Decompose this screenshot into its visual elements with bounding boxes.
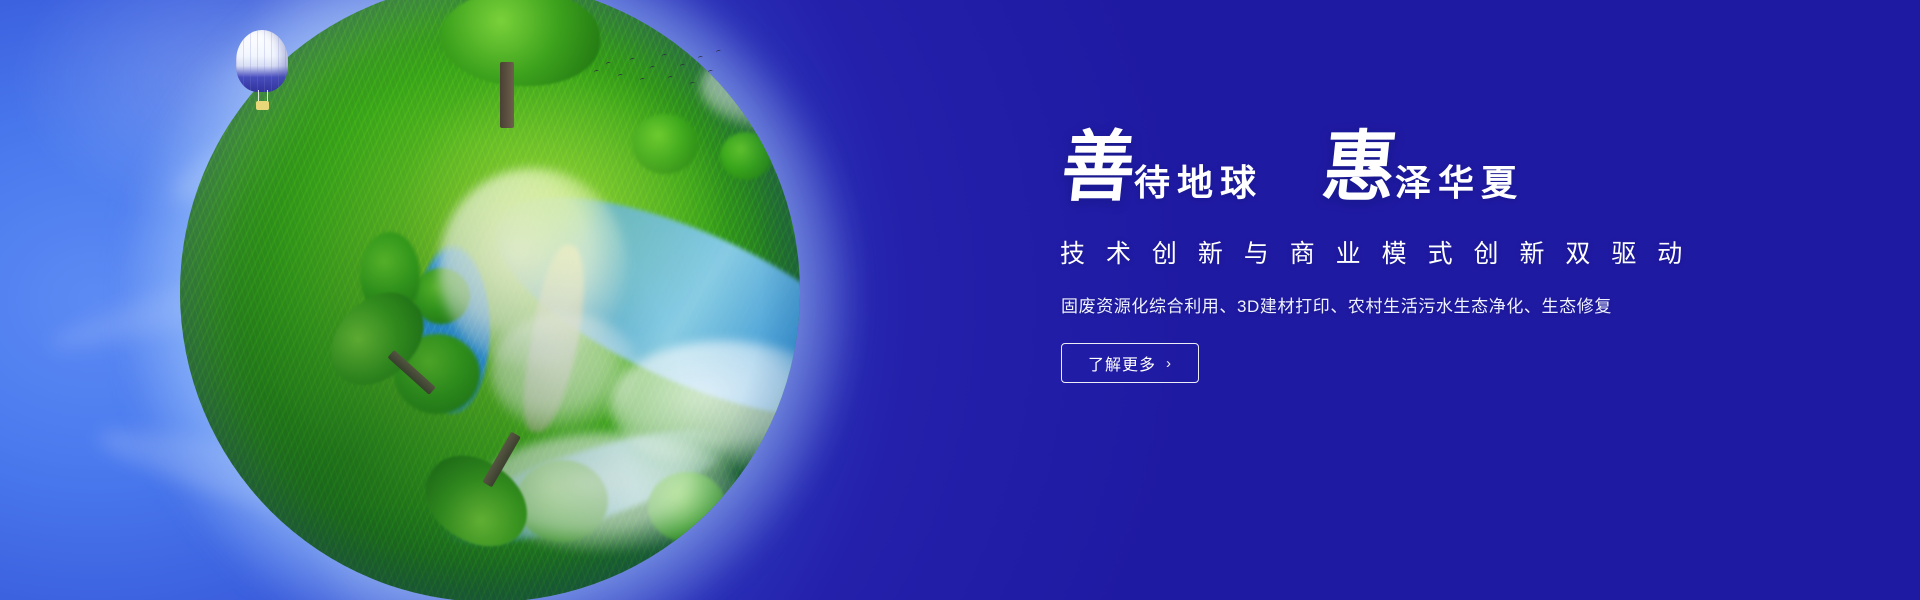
- cloud: [610, 340, 800, 470]
- headline-rest-1: 待地球: [1134, 165, 1263, 201]
- headline-brush-char-2: 惠: [1319, 131, 1406, 208]
- headline-brush-char-1: 善: [1058, 131, 1145, 208]
- forest-clump: [648, 472, 726, 542]
- forest-clump: [516, 460, 608, 542]
- river: [432, 407, 739, 566]
- cloud: [480, 432, 740, 552]
- page-subtitle: 技 术 创 新 与 商 业 模 式 创 新 双 驱 动: [1060, 234, 1678, 270]
- tree-canopy: [410, 440, 544, 563]
- cloud: [490, 312, 640, 432]
- tree-trunk: [387, 350, 435, 395]
- hero-banner: 善 待地球 惠 泽华夏 技 术 创 新 与 商 业 模 式 创 新 双 驱 动 …: [0, 0, 1920, 600]
- forest-clump: [720, 132, 772, 180]
- hero-copy-block: 善 待地球 惠 泽华夏 技 术 创 新 与 商 业 模 式 创 新 双 驱 动 …: [1058, 138, 1678, 383]
- cloud: [700, 42, 800, 132]
- page-description: 固废资源化综合利用、3D建材打印、农村生活污水生态净化、生态修复: [1061, 292, 1678, 317]
- tree-trunk: [482, 432, 521, 488]
- tree-canopy: [314, 275, 440, 403]
- forest-clump: [632, 114, 698, 174]
- forest-clump: [792, 188, 800, 254]
- page-title: 善 待地球 惠 泽华夏: [1058, 138, 1678, 208]
- headline-rest-2: 泽华夏: [1395, 165, 1524, 201]
- forest-clump: [412, 268, 470, 324]
- learn-more-label: 了解更多: [1088, 351, 1156, 375]
- learn-more-button[interactable]: 了解更多 ›: [1061, 343, 1199, 383]
- forest-clump: [776, 388, 800, 450]
- tree: [788, 281, 800, 458]
- tree: [400, 391, 569, 564]
- lake-shoreline: [516, 241, 594, 436]
- cloud: [438, 168, 628, 368]
- chevron-right-icon: ›: [1166, 356, 1172, 371]
- forest-clump: [360, 232, 420, 318]
- river: [468, 153, 800, 461]
- forest-clump: [394, 334, 480, 414]
- tree: [314, 271, 477, 433]
- tiny-planet-earth-image: [180, 0, 800, 600]
